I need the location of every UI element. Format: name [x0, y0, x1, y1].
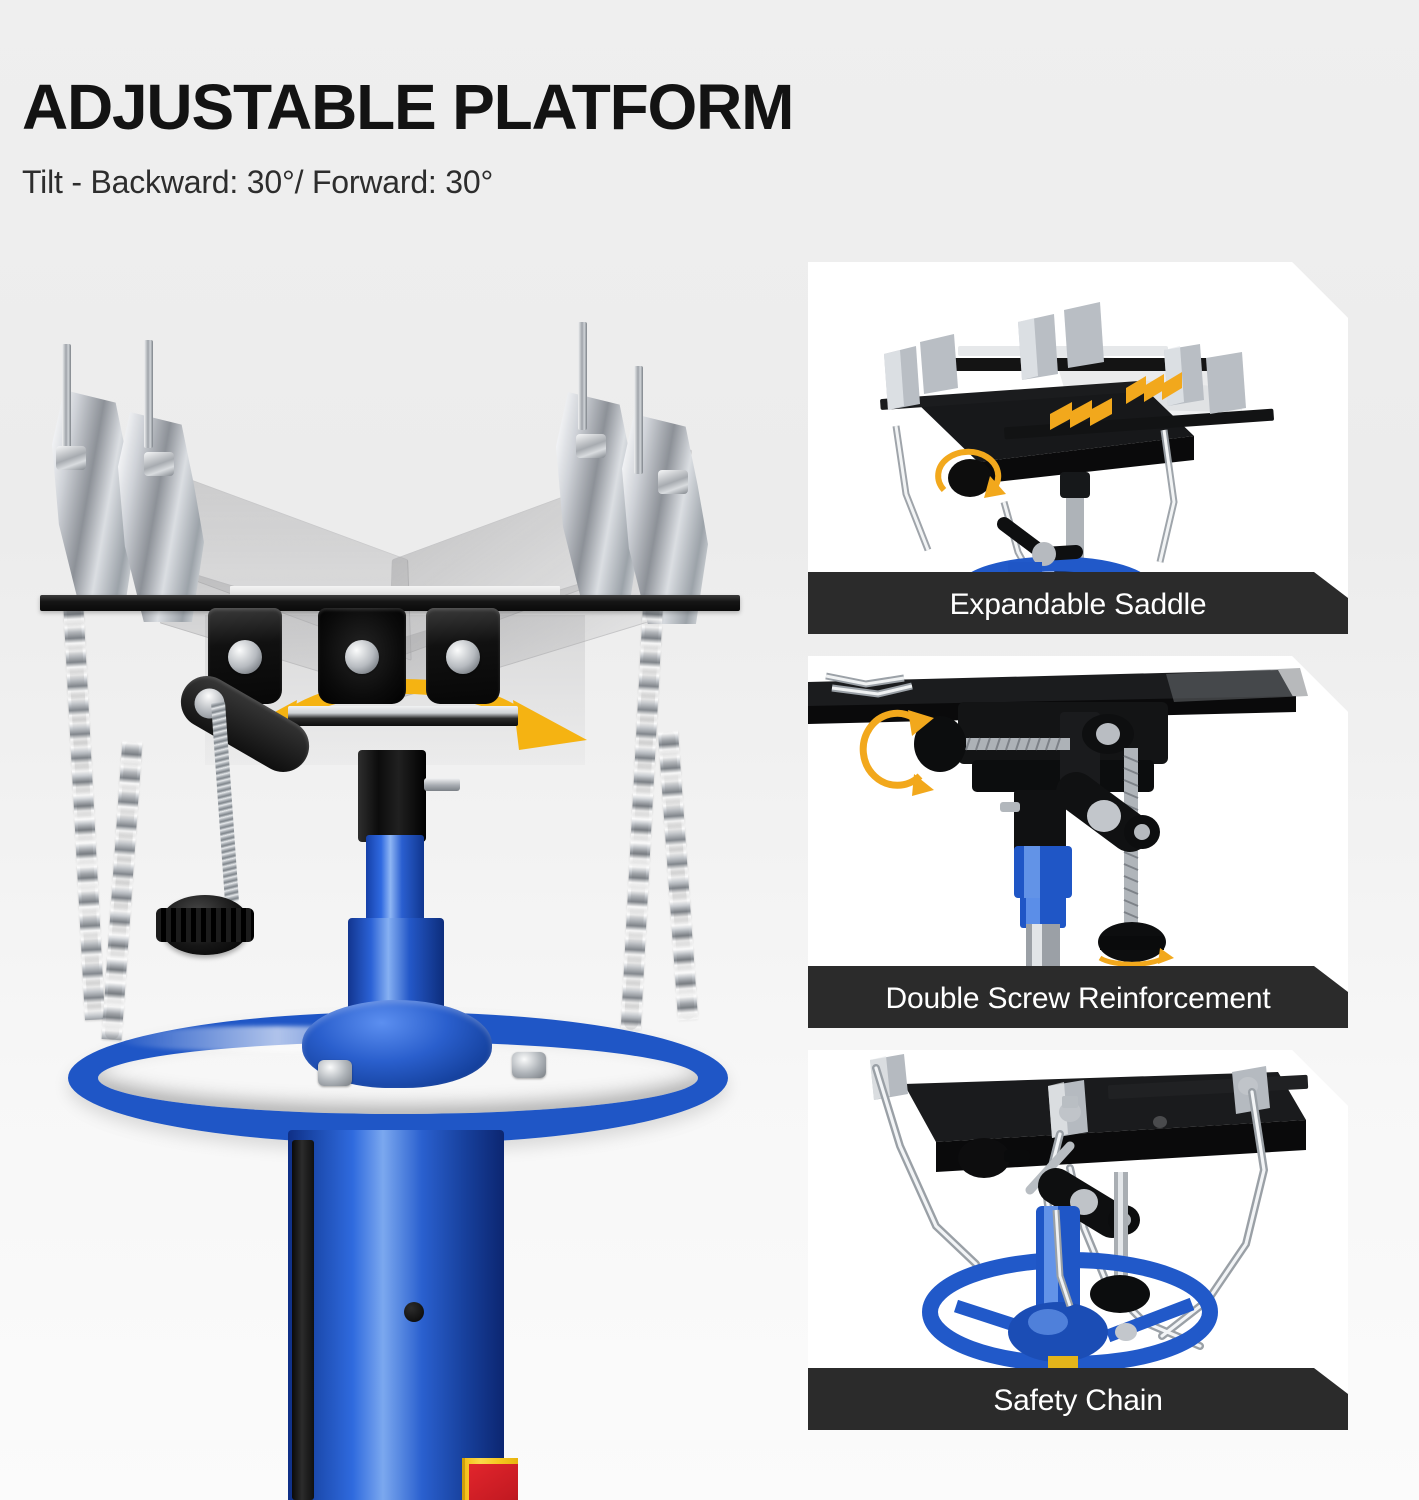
jack-body-rail [292, 1140, 314, 1500]
page-subtitle: Tilt - Backward: 30°/ Forward: 30° [22, 164, 1172, 201]
column-collar [358, 750, 426, 842]
warning-sticker: CLOSE [462, 1458, 518, 1500]
tilt-adjust-knob [318, 608, 406, 704]
hub-bolt-right [512, 1052, 546, 1078]
feature-panel-expandable-saddle[interactable]: Expandable Saddle [808, 262, 1348, 634]
feature-panel-safety-chain[interactable]: Safety Chain [808, 1050, 1348, 1430]
infographic-page: ADJUSTABLE PLATFORM Tilt - Backward: 30°… [0, 0, 1419, 1500]
page-title: ADJUSTABLE PLATFORM [22, 74, 1172, 141]
adjust-screw-knob [162, 895, 248, 955]
hero-stage: CLOSE [0, 300, 790, 1500]
header-block: ADJUSTABLE PLATFORM Tilt - Backward: 30°… [22, 74, 1172, 201]
panel-1-caption-text: Expandable Saddle [950, 588, 1207, 622]
safety-chain-left-inner [102, 740, 143, 1041]
hero-product-image: CLOSE [0, 300, 790, 1500]
jack-body-cylinder [288, 1130, 504, 1500]
safety-chain-right-inner [658, 730, 698, 1021]
column-release-pin [424, 778, 460, 791]
feature-panel-double-screw[interactable]: Double Screw Reinforcement [808, 656, 1348, 1028]
panel-3-caption-text: Safety Chain [993, 1384, 1162, 1418]
tilt-base-plate [288, 706, 518, 726]
panel-1-caption-bar: Expandable Saddle [808, 572, 1348, 634]
panel-2-caption-text: Double Screw Reinforcement [886, 982, 1271, 1016]
panel-3-caption-bar: Safety Chain [808, 1368, 1348, 1430]
safety-chain-left-outer [63, 600, 105, 1020]
hub-bolt-left [318, 1060, 352, 1086]
safety-chain-right-outer [621, 600, 663, 1030]
saddle-bracket-outer-right [622, 414, 708, 624]
saddle-bracket-inner-left [118, 412, 204, 622]
panel-2-caption-bar: Double Screw Reinforcement [808, 966, 1348, 1028]
tilt-lug-right [426, 608, 500, 704]
jack-body-bolt [404, 1302, 424, 1322]
sticker-red-banner [469, 1464, 518, 1500]
column-blue-upper [366, 835, 424, 925]
